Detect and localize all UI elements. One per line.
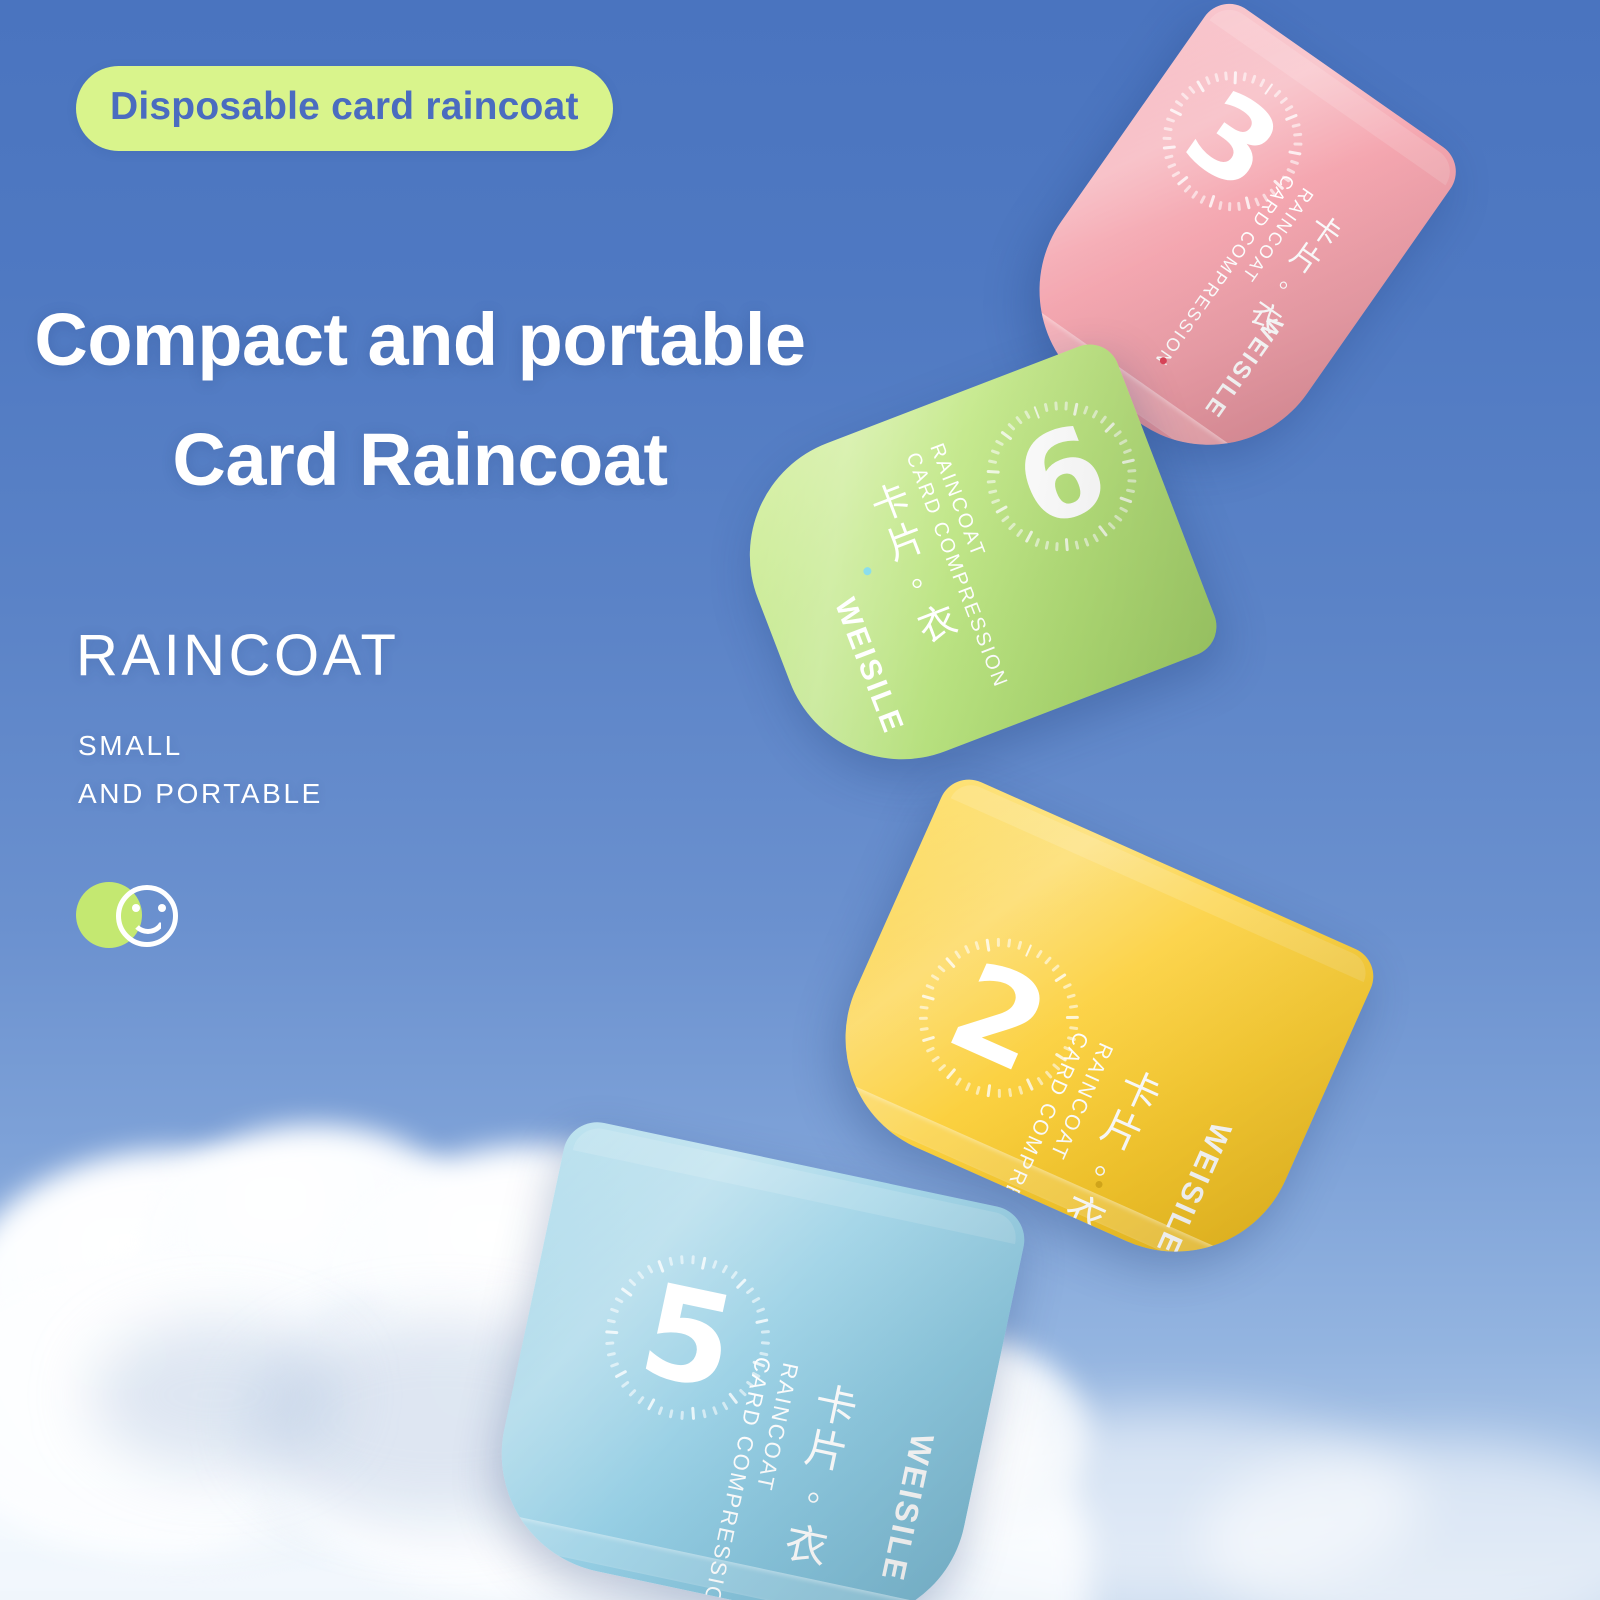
subheading-lines: SMALL AND PORTABLE	[78, 722, 323, 818]
product-promo-banner: Disposable card raincoat Compact and por…	[0, 0, 1600, 1600]
pack-brand: WEISILE	[1148, 1117, 1237, 1261]
smiley-logo-icon	[76, 882, 192, 952]
subheading-line-2: AND PORTABLE	[78, 770, 323, 818]
headline-line-1: Compact and portable	[0, 280, 830, 400]
pack-brand: WEISILE	[873, 1430, 941, 1586]
subheading-line-1: SMALL	[78, 722, 323, 770]
pack-vent-dot	[862, 566, 872, 576]
badge-disposable-card-raincoat: Disposable card raincoat	[76, 66, 613, 151]
headline-line-2: Card Raincoat	[0, 400, 830, 520]
pack-brand: WEISILE	[827, 594, 910, 740]
page-title: Compact and portable Card Raincoat	[0, 280, 830, 520]
subheading-title: RAINCOAT	[76, 622, 399, 689]
product-pack-blue[interactable]: 5 RAINCOAT CARD COMPRESSION 卡片◦衣 WEISILE	[479, 1116, 1030, 1600]
pack-number-badge: 6	[964, 379, 1158, 573]
pack-body: 5 RAINCOAT CARD COMPRESSION 卡片◦衣 WEISILE	[479, 1116, 1030, 1600]
pack-brand-name: WEISILE	[828, 594, 910, 739]
pack-brand-name: WEISILE	[1149, 1117, 1237, 1261]
pack-brand-name: WEISILE	[874, 1430, 941, 1585]
